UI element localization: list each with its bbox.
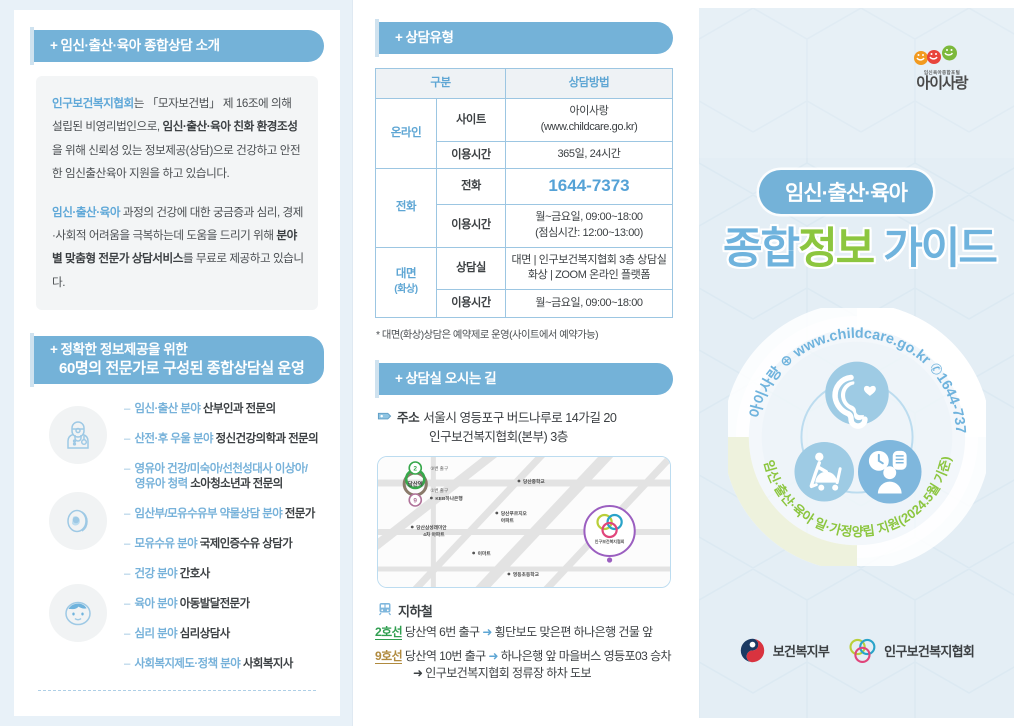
ppfk-rings-icon [847, 637, 877, 664]
work-life-balance-icon [857, 440, 921, 504]
svg-text:①번 출구: ①번 출구 [430, 487, 448, 494]
cell-value-phone-number: 1644-7373 [506, 169, 673, 205]
address-line2: 인구보건복지협회(본부) 3층 [397, 428, 616, 447]
intro-p1-emph: 임신·출산·육아 친화 환경조성 [162, 120, 297, 133]
aisarang-smiley-icon [911, 44, 973, 66]
intro-p2-emph-blue: 임신·출산·육아 [52, 206, 120, 219]
cell-sub-room: 상담실 [437, 247, 506, 290]
expert-list: – 임신·출산 분야 산부인과 전문의 – 산전·후 우울 분야 정신건강의학과… [124, 402, 322, 672]
directions-block: +상담실 오시는 길 주소서울시 영등포구 버드나루로 14가길 20 인구보건… [375, 363, 673, 683]
expert-role: 산부인과 전문의 [203, 403, 276, 415]
expert-item-2: – 산전·후 우울 분야 정신건강의학과 전문의 [124, 432, 322, 447]
expert-role: 정신건강의학과 전문의 [216, 433, 318, 445]
inperson-sublabel: (화상) [379, 283, 433, 298]
experts-block: – 임신·출산 분야 산부인과 전문의 – 산전·후 우울 분야 정신건강의학과… [32, 402, 322, 672]
cell-value-hours-inperson: 월~금요일, 09:00~18:00 [506, 290, 673, 317]
table-header-row: 구분 상담방법 [376, 69, 673, 99]
cell-category-online: 온라인 [376, 98, 437, 168]
cell-value-room: 대면 | 인구보건복지협회 3층 상담실 화상 | ZOOM 온라인 플랫폼 [506, 247, 673, 290]
title-part-1: 종합 [723, 225, 798, 273]
dash: – [124, 658, 130, 670]
plus-icon-2: + [50, 342, 57, 357]
pregnant-woman-icon [49, 492, 107, 550]
mohw-label: 보건복지부 [773, 641, 829, 660]
panel-left-inner: +임신·출산·육아 종합상담 소개 인구보건복지협회는 「모자보건법」 제 16… [14, 10, 340, 716]
expert-field-line2: 영유아 청력 소아청소년과 전문의 [124, 477, 322, 492]
cell-sub-site: 사이트 [437, 98, 506, 141]
subway-route-line9: 9호선 당산역 10번 출구 ➜ 하나은행 앞 마을버스 영등포03 승차 ➜ … [375, 648, 673, 683]
ppfk-logo: 인구보건복지협회 [847, 637, 974, 664]
expert-field: 모유수유 분야 [135, 538, 198, 550]
cell-sub-hours-phone: 이용시간 [437, 204, 506, 247]
dash: – [124, 628, 130, 640]
expert-role: 전문가 [285, 508, 315, 520]
address-text: 주소서울시 영등포구 버드나루로 14가길 20 인구보건복지협회(본부) 3층 [397, 409, 616, 447]
cell-category-inperson: 대면 (화상) [376, 247, 437, 317]
line2-step-b: 횡단보도 맞은편 하나은행 [495, 625, 616, 639]
svg-text:4차 아파트: 4차 아파트 [423, 531, 445, 538]
svg-text:당산역: 당산역 [408, 480, 423, 488]
aisarang-logo: 임신육아종합포털 아이사랑 [896, 44, 988, 91]
cell-sub-hours-inperson: 이용시간 [437, 290, 506, 317]
expert-item-6: – 건강 분야 간호사 [124, 567, 322, 582]
phone-hours-line2: (점심시간: 12:00~13:00) [535, 227, 643, 239]
experts-header-line1: 정확한 정보제공을 위한 [60, 342, 187, 357]
line-badge-9: 9호선 [375, 649, 402, 664]
expert-role: 간호사 [180, 568, 210, 580]
panel-right-cover: 임신육아종합포털 아이사랑 임신·출산·육아 종합정보 가이드 아이사랑 ⊕ w… [691, 0, 1024, 726]
subway-icon [377, 601, 398, 620]
expert-field: 임신·출산 분야 [135, 403, 201, 415]
expert-role: 소아청소년과 전문의 [190, 478, 282, 490]
parent-stroller-icon [794, 442, 854, 502]
intro-paragraph-1: 인구보건복지협회는 「모자보건법」 제 16조에 의해 설립된 비영리법인으로,… [52, 92, 304, 185]
expert-field: 산전·후 우울 분야 [135, 433, 213, 445]
cell-value-hours-phone: 월~금요일, 09:00~18:00 (점심시간: 12:00~13:00) [506, 204, 673, 247]
inperson-label: 대면 [396, 268, 416, 280]
expert-field: 육아 분야 [135, 598, 178, 610]
plus-icon: + [50, 38, 57, 53]
line-badge-2: 2호선 [375, 625, 402, 640]
expert-role: 아동발달전문가 [180, 598, 250, 610]
consultation-table: 구분 상담방법 온라인 사이트 아이사랑 (www.childcare.go.k… [375, 68, 673, 317]
svg-text:당산중학교: 당산중학교 [523, 478, 545, 485]
svg-text:당산푸르지오: 당산푸르지오 [501, 510, 528, 517]
expert-role: 심리상담사 [180, 628, 230, 640]
cell-value-site: 아이사랑 (www.childcare.go.kr) [506, 98, 673, 141]
brochure: +임신·출산·육아 종합상담 소개 인구보건복지협회는 「모자보건법」 제 16… [0, 0, 1024, 726]
cover-bottom-logos: 보건복지부 인구보건복지협회 [699, 637, 1014, 664]
doctor-icon [49, 406, 107, 464]
aisarang-name: 아이사랑 [896, 76, 988, 91]
expert-item-5: – 모유수유 분야 국제인증수유 상담가 [124, 537, 322, 552]
directions-label: 상담실 오시는 길 [405, 371, 496, 386]
col-header-category: 구분 [376, 69, 506, 99]
cell-value-hours-online: 365일, 24시간 [506, 141, 673, 168]
subway-label: 지하철 [398, 601, 432, 620]
dashed-divider [38, 690, 316, 691]
expert-field: 사회복지제도·정책 분야 [135, 658, 241, 670]
line2-step-c: 건물 앞 [618, 625, 652, 639]
panel-left: +임신·출산·육아 종합상담 소개 인구보건복지협회는 「모자보건법」 제 16… [0, 0, 352, 726]
table-row: 전화 전화 1644-7373 [376, 169, 673, 205]
expert-role: 국제인증수유 상담가 [200, 538, 292, 550]
intro-paragraph-2: 임신·출산·육아 과정의 건강에 대한 궁금증과 심리, 경제·사회적 어려움을… [52, 201, 304, 294]
expert-item-3: – 영유아 건강/미숙아/선천성대사 이상아/영유아 청력 소아청소년과 전문의 [124, 462, 322, 493]
location-map[interactable]: 2 9 당산역 ③번 출구 ①번 출구 KEB하나은행 당산중학교 당산푸르지오… [377, 456, 671, 588]
dash: – [124, 508, 130, 520]
mohw-logo: 보건복지부 [739, 637, 829, 664]
title-part-2: 정보 [798, 225, 873, 273]
col-header-method: 상담방법 [506, 69, 673, 99]
mohw-taegeuk-icon [739, 637, 766, 664]
cell-category-phone: 전화 [376, 169, 437, 248]
room-line1: 대면 | 인구보건복지협회 3층 상담실 [512, 254, 667, 266]
svg-text:인구보건복지협회: 인구보건복지협회 [595, 538, 625, 544]
dash: – [124, 538, 130, 550]
line9-step-a: 당산역 10번 출구 [405, 649, 486, 663]
expert-field: 영유아 건강/미숙아/선천성대사 이상아/ [135, 463, 308, 475]
ppfk-label: 인구보건복지협회 [884, 641, 974, 660]
room-line2: 화상 | ZOOM 온라인 플랫폼 [528, 269, 650, 281]
svg-text:당산삼성래미안: 당산삼성래미안 [416, 524, 447, 531]
map-graphic: 2 9 당산역 ③번 출구 ①번 출구 KEB하나은행 당산중학교 당산푸르지오… [378, 457, 670, 587]
plus-icon-4: + [395, 371, 402, 386]
cell-sub-hours-online: 이용시간 [437, 141, 506, 168]
svg-text:영등초등학교: 영등초등학교 [513, 571, 540, 578]
subway-header: 지하철 [377, 601, 673, 620]
experts-header-line2: 60명의 전문가로 구성된 종합상담실 운영 [50, 359, 310, 379]
section-header-experts: +정확한 정보제공을 위한 60명의 전문가로 구성된 종합상담실 운영 [34, 336, 324, 384]
dash: – [124, 433, 130, 445]
table-row: 온라인 사이트 아이사랑 (www.childcare.go.kr) [376, 98, 673, 141]
table-head: 구분 상담방법 [376, 69, 673, 99]
cover-emblem: 아이사랑 ⊕ www.childcare.go.kr ✆1644-7373 임신… [728, 308, 986, 566]
svg-text:KEB하나은행: KEB하나은행 [435, 495, 462, 502]
expert-item-1: – 임신·출산 분야 산부인과 전문의 [124, 402, 322, 417]
section-header-intro-label: 임신·출산·육아 종합상담 소개 [60, 38, 219, 53]
baby-face-icon [49, 584, 107, 642]
plus-icon-3: + [395, 30, 402, 45]
svg-text:9: 9 [413, 497, 417, 504]
address-line: 주소서울시 영등포구 버드나루로 14가길 20 인구보건복지협회(본부) 3층 [377, 409, 673, 447]
dash: – [124, 403, 130, 415]
intro-org-name: 인구보건복지협회 [52, 97, 134, 110]
site-name: 아이사랑 [570, 105, 609, 117]
subway-directions-list: 2호선 당산역 6번 출구 ➜ 횡단보도 맞은편 하나은행 건물 앞 9호선 당… [375, 624, 673, 683]
svg-text:아파트: 아파트 [501, 517, 515, 524]
cell-sub-phone: 전화 [437, 169, 506, 205]
expert-field: 심리 분야 [135, 628, 178, 640]
cover: 임신육아종합포털 아이사랑 임신·출산·육아 종합정보 가이드 아이사랑 ⊕ w… [699, 8, 1014, 718]
table-note: * 대면(화상)상담은 예약제로 운영(사이트에서 예약가능) [376, 326, 673, 341]
expert-item-7: – 육아 분야 아동발달전문가 [124, 597, 322, 612]
map-pin-icon [377, 410, 392, 431]
phone-hours-line1: 월~금요일, 09:00~18:00 [535, 211, 642, 223]
expert-role: 사회복지사 [243, 658, 293, 670]
expert-item-9: – 사회복지제도·정책 분야 사회복지사 [124, 657, 322, 672]
consult-types-label: 상담유형 [405, 30, 453, 45]
table-row: 대면 (화상) 상담실 대면 | 인구보건복지협회 3층 상담실 화상 | ZO… [376, 247, 673, 290]
dash: – [124, 598, 130, 610]
arrow-icon: ➜ [482, 625, 492, 639]
expert-field: 건강 분야 [135, 568, 178, 580]
expert-field: 임산부/모유수유부 약물상담 분야 [135, 508, 283, 520]
subway-route-line2: 2호선 당산역 6번 출구 ➜ 횡단보도 맞은편 하나은행 건물 앞 [375, 624, 673, 641]
line2-step-a: 당산역 6번 출구 [405, 625, 480, 639]
panel-middle: +상담유형 구분 상담방법 온라인 사이트 아이사랑 (www.childcar… [352, 0, 691, 726]
expert-field-cont: 영유아 청력 [135, 478, 188, 490]
expert-item-8: – 심리 분야 심리상담사 [124, 627, 322, 642]
table-body: 온라인 사이트 아이사랑 (www.childcare.go.kr) 이용시간 … [376, 98, 673, 317]
svg-text:이마트: 이마트 [478, 550, 492, 557]
intro-p1-d: 을 위해 신뢰성 있는 정보제공(상담)으로 건강하고 안전한 임신출산육아 지… [52, 144, 300, 180]
arrow-icon-2: ➜ [488, 649, 498, 663]
address-label: 주소 [397, 411, 419, 425]
dash: – [124, 568, 130, 580]
dash: – [124, 463, 130, 475]
intro-text-box: 인구보건복지협회는 「모자보건법」 제 16조에 의해 설립된 비영리법인으로,… [36, 76, 318, 310]
title-part-3: 가이드 [873, 225, 996, 273]
section-header-intro: +임신·출산·육아 종합상담 소개 [34, 30, 324, 62]
section-header-directions: +상담실 오시는 길 [379, 363, 673, 395]
expert-item-4: – 임산부/모유수유부 약물상담 분야 전문가 [124, 507, 322, 522]
svg-text:③번 출구: ③번 출구 [430, 465, 448, 472]
line9-step-d: 하차 도보 [546, 666, 591, 680]
expert-icon-column [36, 406, 120, 670]
cover-title-main: 종합정보 가이드 [723, 214, 996, 276]
site-url: (www.childcare.go.kr) [541, 121, 638, 133]
svg-text:2: 2 [413, 465, 417, 472]
address-line1: 서울시 영등포구 버드나루로 14가길 20 [423, 411, 616, 425]
section-header-consult-types: +상담유형 [379, 22, 673, 54]
cover-title-pill: 임신·출산·육아 [759, 170, 933, 214]
line9-step-b: 하나은행 앞 마을버스 [501, 649, 601, 663]
